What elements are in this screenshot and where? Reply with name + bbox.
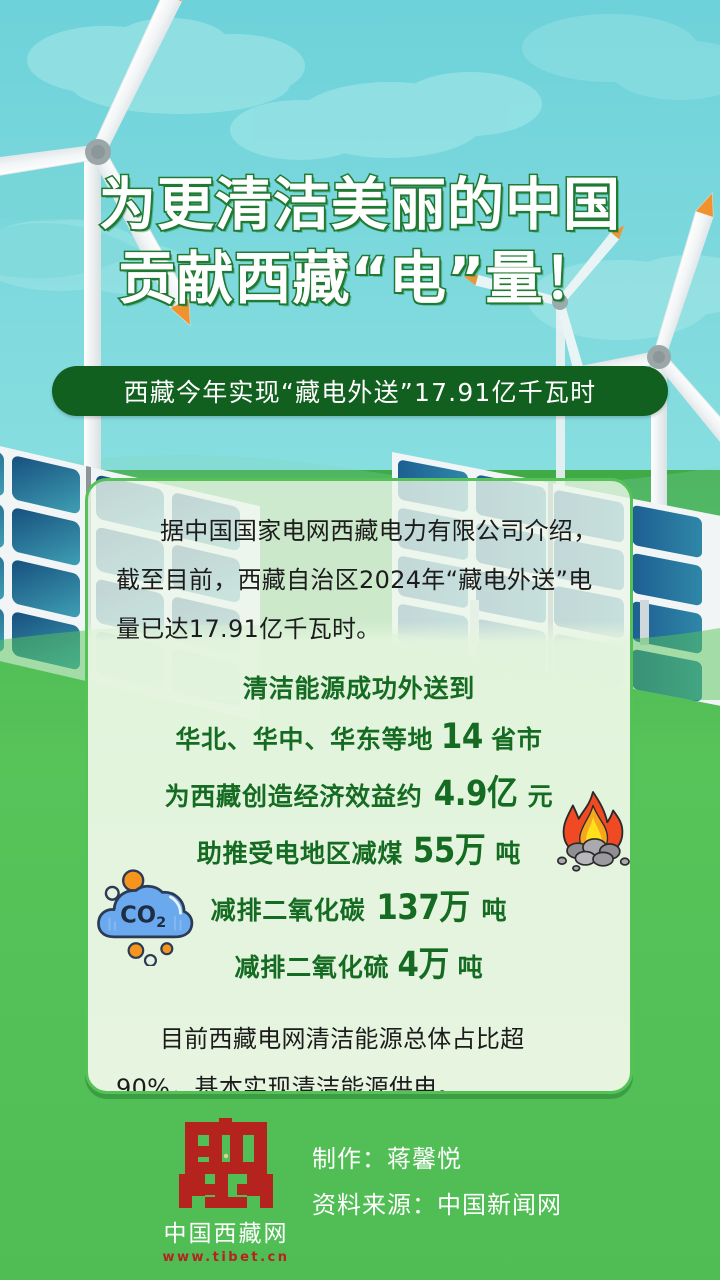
intro-paragraph: 据中国国家电网西藏电力有限公司介绍，截至目前，西藏自治区2024年“藏电外送”电… bbox=[116, 507, 602, 654]
stat-value: 4万 bbox=[393, 938, 453, 992]
stat-suffix: 吨 bbox=[458, 953, 484, 982]
stat-value: 55万 bbox=[409, 824, 490, 878]
stat-prefix: 助推受电地区减煤 bbox=[197, 839, 403, 868]
stat-suffix: 省市 bbox=[491, 725, 543, 754]
credit-source: 资料来源：中国新闻网 bbox=[312, 1182, 562, 1228]
stat-prefix: 为西藏创造经济效益约 bbox=[165, 782, 423, 811]
stat-row: 华北、华中、华东等地14省市 bbox=[116, 710, 602, 767]
stat-row: 为西藏创造经济效益约4.9亿元 bbox=[116, 767, 602, 824]
poster-root: 为更清洁美丽的中国 贡献西藏“电”量！ 西藏今年实现“藏电外送”17.91亿千瓦… bbox=[0, 0, 720, 1280]
stat-prefix: 减排二氧化碳 bbox=[211, 896, 366, 925]
co2-label-sub: 2 bbox=[156, 915, 166, 931]
subtitle-text: 西藏今年实现“藏电外送”17.91亿千瓦时 bbox=[124, 373, 597, 409]
stats-heading: 清洁能源成功外送到 bbox=[116, 668, 602, 710]
stat-value: 14 bbox=[437, 710, 488, 764]
content-card: 据中国国家电网西藏电力有限公司介绍，截至目前，西藏自治区2024年“藏电外送”电… bbox=[85, 478, 633, 1094]
co2-label-text: CO bbox=[120, 902, 156, 928]
tibet-seal-icon bbox=[171, 1118, 281, 1212]
logo-site-name: 中国西藏网 bbox=[160, 1214, 292, 1248]
stat-value: 137万 bbox=[372, 881, 474, 935]
stat-prefix: 减排二氧化硫 bbox=[235, 953, 390, 982]
site-logo: 中国西藏网 www.tibet.cn bbox=[160, 1118, 292, 1265]
credit-author: 制作：蒋馨悦 bbox=[312, 1136, 562, 1182]
stat-suffix: 吨 bbox=[495, 839, 521, 868]
logo-site-url: www.tibet.cn bbox=[160, 1250, 292, 1265]
stat-value: 4.9亿 bbox=[429, 767, 521, 821]
coal-fire-icon bbox=[551, 787, 633, 875]
title-line-1: 为更清洁美丽的中国 bbox=[0, 168, 720, 242]
stat-prefix: 华北、华中、华东等地 bbox=[175, 725, 433, 754]
outro-paragraph: 目前西藏电网清洁能源总体占比超90%，基本实现清洁能源供电。 bbox=[116, 1015, 602, 1094]
subtitle-banner: 西藏今年实现“藏电外送”17.91亿千瓦时 bbox=[52, 366, 668, 416]
title-line-2: 贡献西藏“电”量！ bbox=[0, 242, 720, 316]
co2-cloud-icon: CO2 bbox=[90, 866, 200, 966]
stat-suffix: 吨 bbox=[482, 896, 508, 925]
footer: 中国西藏网 www.tibet.cn 制作：蒋馨悦 资料来源：中国新闻网 bbox=[0, 1100, 720, 1280]
stat-suffix: 元 bbox=[528, 782, 554, 811]
credits-block: 制作：蒋馨悦 资料来源：中国新闻网 bbox=[312, 1136, 562, 1228]
page-title: 为更清洁美丽的中国 贡献西藏“电”量！ bbox=[0, 168, 720, 316]
